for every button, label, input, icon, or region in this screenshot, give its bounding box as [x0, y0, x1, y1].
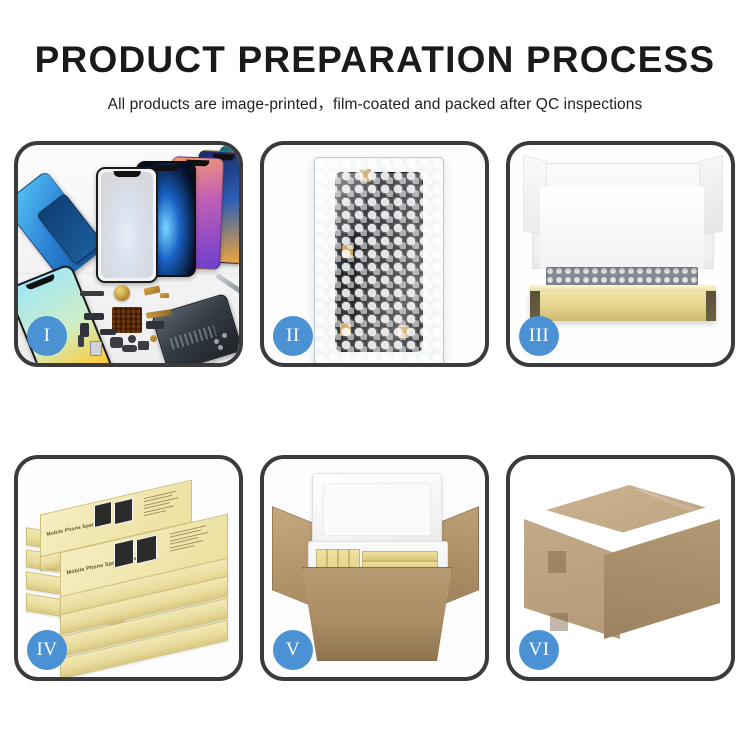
- kraft-box-tray: [530, 291, 716, 321]
- page-subtitle: All products are image-printed，film-coat…: [0, 81, 750, 114]
- sealed-carton: [524, 485, 720, 651]
- panel-1-badge: I: [27, 316, 67, 356]
- process-panel-1[interactable]: I: [14, 141, 243, 367]
- process-panel-6[interactable]: VI: [506, 455, 735, 681]
- bubble-wrap-bag: [314, 157, 444, 363]
- panel-5-badge: V: [273, 630, 313, 670]
- panel-6-badge: VI: [519, 630, 559, 670]
- foam-lid: [312, 473, 442, 551]
- panel-3-badge: III: [519, 316, 559, 356]
- header: PRODUCT PREPARATION PROCESS All products…: [0, 0, 750, 114]
- carton-tape-upper: [548, 551, 566, 573]
- page-title: PRODUCT PREPARATION PROCESS: [0, 0, 750, 81]
- process-panel-grid: I II: [14, 141, 736, 687]
- carton-right-face: [604, 519, 720, 639]
- panel-2-badge: II: [273, 316, 313, 356]
- process-panel-4[interactable]: Mobile Phone Spare Parts Mobile Phone Sp…: [14, 455, 243, 681]
- carton-tape-lower: [550, 613, 568, 631]
- product-preparation-infographic: PRODUCT PREPARATION PROCESS All products…: [0, 0, 750, 750]
- panel-4-badge: IV: [27, 630, 67, 670]
- process-panel-2[interactable]: II: [260, 141, 489, 367]
- process-panel-5[interactable]: V: [260, 455, 489, 681]
- carton-body: [302, 567, 452, 661]
- foam-sheet: [540, 187, 704, 269]
- process-panel-3[interactable]: III: [506, 141, 735, 367]
